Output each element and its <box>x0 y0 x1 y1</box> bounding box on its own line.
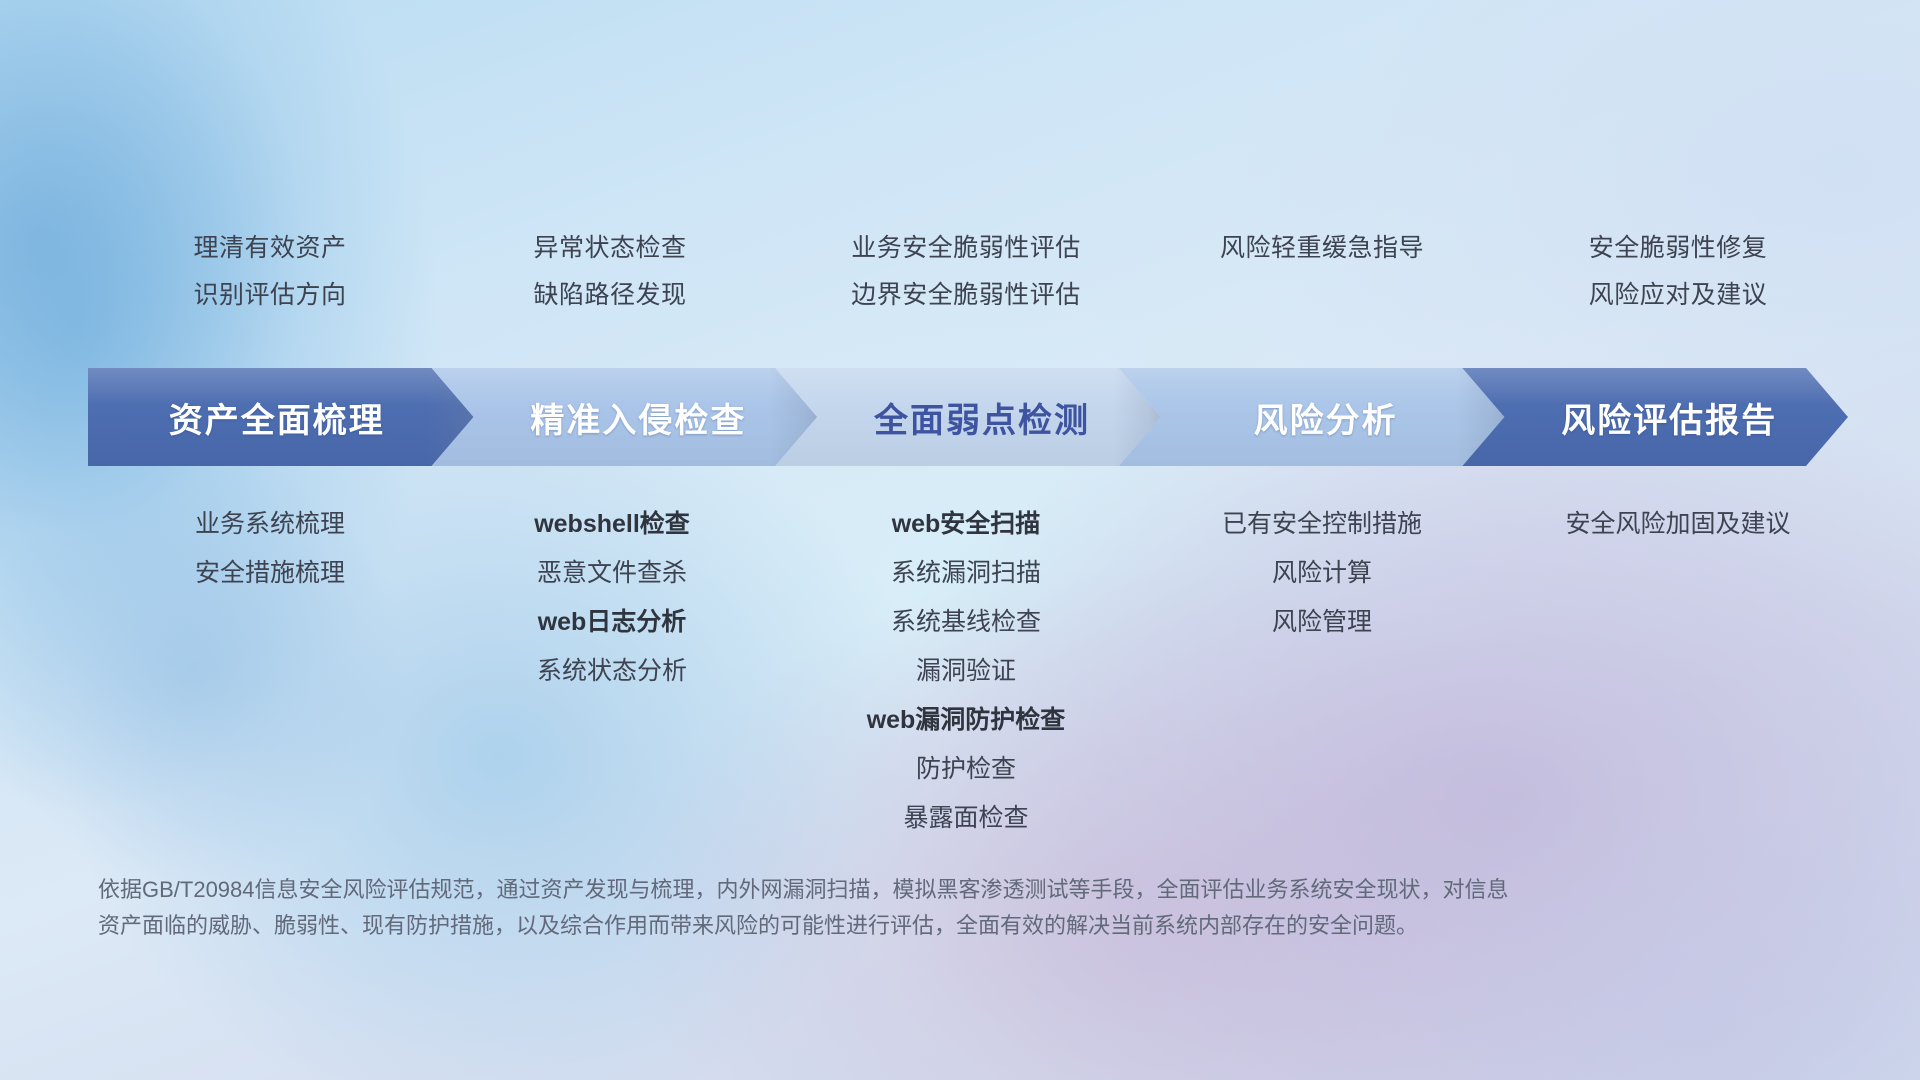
footer-line: 资产面临的威胁、脆弱性、现有防护措施，以及综合作用而带来风险的可能性进行评估，全… <box>98 908 1798 944</box>
top-caption: 风险轻重缓急指导 <box>1146 225 1498 272</box>
bottom-item: 安全风险加固及建议 <box>1502 500 1854 549</box>
stage-arrow-label: 资产全面梳理 <box>169 393 385 442</box>
bottom-item: 风险计算 <box>1146 549 1498 598</box>
top-captions-intrusion-check: 异常状态检查 缺陷路径发现 <box>434 225 786 319</box>
bottom-item: 已有安全控制措施 <box>1146 500 1498 549</box>
bottom-item: 漏洞验证 <box>790 647 1142 696</box>
top-captions-weakness-detection: 业务安全脆弱性评估 边界安全脆弱性评估 <box>790 225 1142 319</box>
stage-arrow-weakness-detection[interactable]: 全面弱点检测 <box>775 368 1161 466</box>
bottom-items-row: 业务系统梳理安全措施梳理 webshell检查恶意文件查杀web日志分析系统状态… <box>88 500 1848 843</box>
bottom-items-intrusion-check: webshell检查恶意文件查杀web日志分析系统状态分析 <box>436 500 788 696</box>
footer-description: 依据GB/T20984信息安全风险评估规范，通过资产发现与梳理，内外网漏洞扫描，… <box>98 872 1798 944</box>
bottom-item: 恶意文件查杀 <box>436 549 788 598</box>
stage-arrow-label: 风险分析 <box>1254 393 1398 442</box>
bottom-items-weakness-detection: web安全扫描系统漏洞扫描系统基线检查漏洞验证web漏洞防护检查防护检查暴露面检… <box>790 500 1142 843</box>
top-caption: 识别评估方向 <box>94 272 446 319</box>
stage-arrow-intrusion-check[interactable]: 精准入侵检查 <box>432 368 818 466</box>
top-caption: 缺陷路径发现 <box>434 272 786 319</box>
process-diagram: 理清有效资产 识别评估方向 异常状态检查 缺陷路径发现 业务安全脆弱性评估 边界… <box>0 0 1920 1080</box>
bottom-items-assessment-report: 安全风险加固及建议 <box>1502 500 1854 549</box>
bottom-item: 安全措施梳理 <box>94 549 446 598</box>
bottom-item: web安全扫描 <box>790 500 1142 549</box>
bottom-items-risk-analysis: 已有安全控制措施风险计算风险管理 <box>1146 500 1498 647</box>
bottom-item: web漏洞防护检查 <box>790 696 1142 745</box>
top-caption: 安全脆弱性修复 <box>1502 225 1854 272</box>
top-caption: 理清有效资产 <box>94 225 446 272</box>
top-caption: 异常状态检查 <box>434 225 786 272</box>
bottom-items-asset-inventory: 业务系统梳理安全措施梳理 <box>94 500 446 598</box>
stage-arrow-label: 精准入侵检查 <box>530 393 746 442</box>
bottom-item: 暴露面检查 <box>790 794 1142 843</box>
stage-arrow-label: 全面弱点检测 <box>874 393 1090 442</box>
bottom-item: 风险管理 <box>1146 598 1498 647</box>
top-caption: 边界安全脆弱性评估 <box>790 272 1142 319</box>
bottom-item: 业务系统梳理 <box>94 500 446 549</box>
footer-line: 依据GB/T20984信息安全风险评估规范，通过资产发现与梳理，内外网漏洞扫描，… <box>98 872 1798 908</box>
stage-arrow-assessment-report[interactable]: 风险评估报告 <box>1462 368 1848 466</box>
top-captions-assessment-report: 安全脆弱性修复 风险应对及建议 <box>1502 225 1854 319</box>
top-caption: 风险应对及建议 <box>1502 272 1854 319</box>
stage-arrow-risk-analysis[interactable]: 风险分析 <box>1119 368 1505 466</box>
top-captions-risk-analysis: 风险轻重缓急指导 <box>1146 225 1498 319</box>
bottom-item: 系统漏洞扫描 <box>790 549 1142 598</box>
top-caption: 业务安全脆弱性评估 <box>790 225 1142 272</box>
stage-arrow-band: 资产全面梳理 精准入侵检查 全面弱点检测 风险分析 风险评估报告 <box>88 368 1848 466</box>
top-captions-asset-inventory: 理清有效资产 识别评估方向 <box>94 225 446 319</box>
bottom-item: web日志分析 <box>436 598 788 647</box>
bottom-item: 防护检查 <box>790 745 1142 794</box>
bottom-item: 系统基线检查 <box>790 598 1142 647</box>
bottom-item: webshell检查 <box>436 500 788 549</box>
bottom-item: 系统状态分析 <box>436 647 788 696</box>
top-captions-row: 理清有效资产 识别评估方向 异常状态检查 缺陷路径发现 业务安全脆弱性评估 边界… <box>88 225 1848 319</box>
stage-arrow-asset-inventory[interactable]: 资产全面梳理 <box>88 368 474 466</box>
stage-arrow-label: 风险评估报告 <box>1561 393 1777 442</box>
